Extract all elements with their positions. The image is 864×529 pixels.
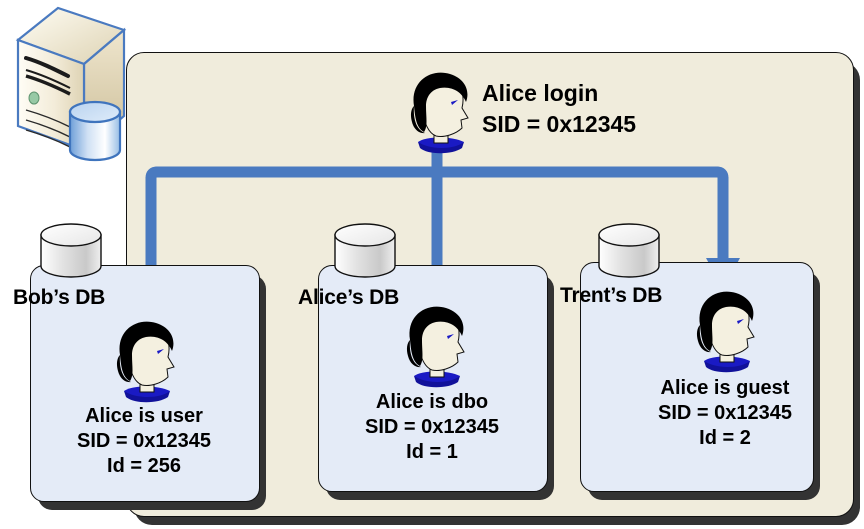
diagram-canvas: Alice login SID = 0x12345 Bob’s DB xyxy=(0,0,864,529)
person-profile-icon xyxy=(392,300,478,392)
database-cylinder-icon xyxy=(68,100,122,162)
db-content-bobs: Alice is user SID = 0x12345 Id = 256 xyxy=(30,404,258,479)
db-label-alices: Alice’s DB xyxy=(298,286,399,310)
db-label-bobs: Bob’s DB xyxy=(13,286,105,310)
db-sid-trents: SID = 0x12345 xyxy=(611,401,839,426)
login-sid: SID = 0x12345 xyxy=(482,109,636,140)
db-role-trents: Alice is guest xyxy=(611,376,839,401)
database-cylinder-icon xyxy=(38,222,104,280)
db-sid-bobs: SID = 0x12345 xyxy=(30,429,258,454)
db-content-alices: Alice is dbo SID = 0x12345 Id = 1 xyxy=(318,390,546,465)
db-id-alices: Id = 1 xyxy=(318,440,546,465)
database-cylinder-icon xyxy=(332,222,398,280)
db-role-alices: Alice is dbo xyxy=(318,390,546,415)
login-name: Alice login xyxy=(482,78,636,109)
db-sid-alices: SID = 0x12345 xyxy=(318,415,546,440)
database-cylinder-icon xyxy=(596,222,662,280)
person-profile-icon xyxy=(682,285,768,377)
person-profile-icon xyxy=(102,315,188,407)
login-label-block: Alice login SID = 0x12345 xyxy=(482,78,636,140)
db-label-trents: Trent’s DB xyxy=(560,284,662,308)
db-content-trents: Alice is guest SID = 0x12345 Id = 2 xyxy=(611,376,839,451)
db-role-bobs: Alice is user xyxy=(30,404,258,429)
person-profile-icon xyxy=(396,66,482,158)
db-id-bobs: Id = 256 xyxy=(30,454,258,479)
db-id-trents: Id = 2 xyxy=(611,426,839,451)
